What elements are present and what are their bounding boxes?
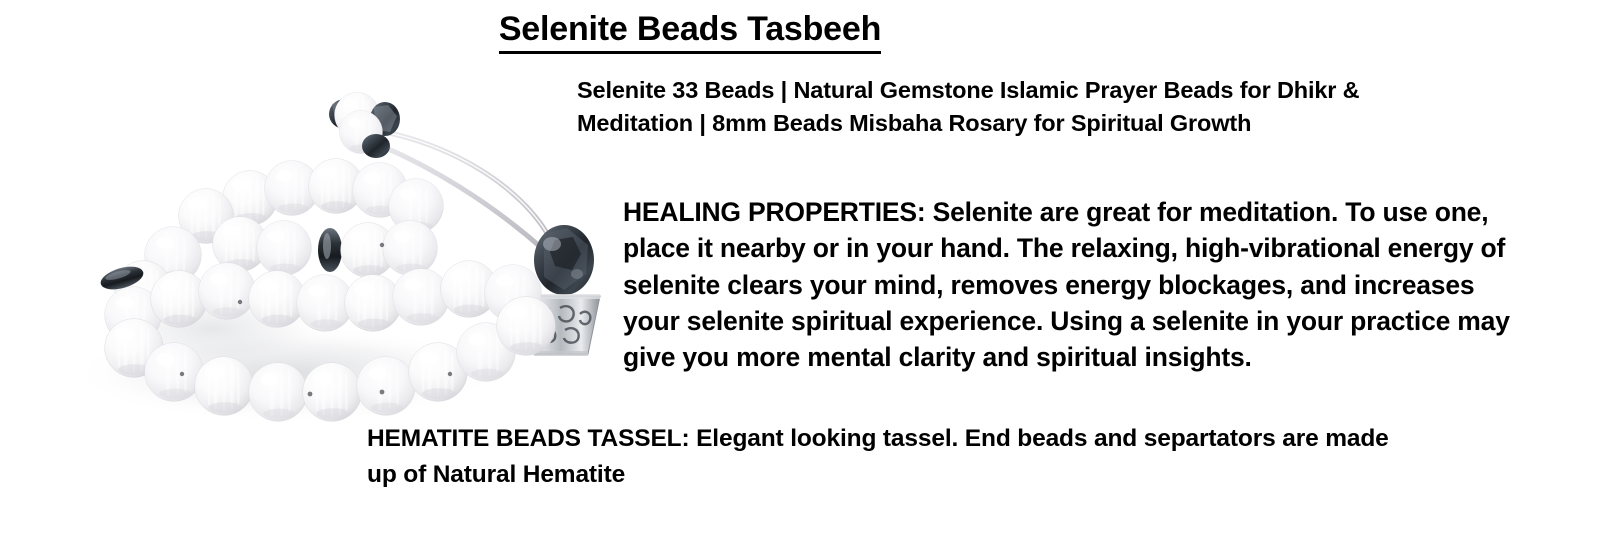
product-subtitle: Selenite 33 Beads | Natural Gemstone Isl… (577, 74, 1407, 141)
hematite-separator-inner (318, 228, 342, 272)
selenite-beads-illustration (52, 74, 632, 429)
page-title: Selenite Beads Tasbeeh (0, 10, 1380, 54)
healing-properties-paragraph: HEALING PROPERTIES: Selenite are great f… (623, 194, 1528, 375)
hematite-end-bead (534, 225, 594, 295)
hematite-tassel-paragraph: HEMATITE BEADS TASSEL: Elegant looking t… (367, 421, 1397, 492)
tassel-head-cluster (329, 92, 400, 158)
bead-arc-inner (179, 159, 444, 278)
hematite-bead-top-bottom (362, 134, 390, 158)
product-photo (52, 74, 632, 429)
product-info-panel: Selenite Beads Tasbeeh Selenite 33 Beads… (0, 0, 1600, 533)
page-title-text: Selenite Beads Tasbeeh (499, 10, 881, 54)
